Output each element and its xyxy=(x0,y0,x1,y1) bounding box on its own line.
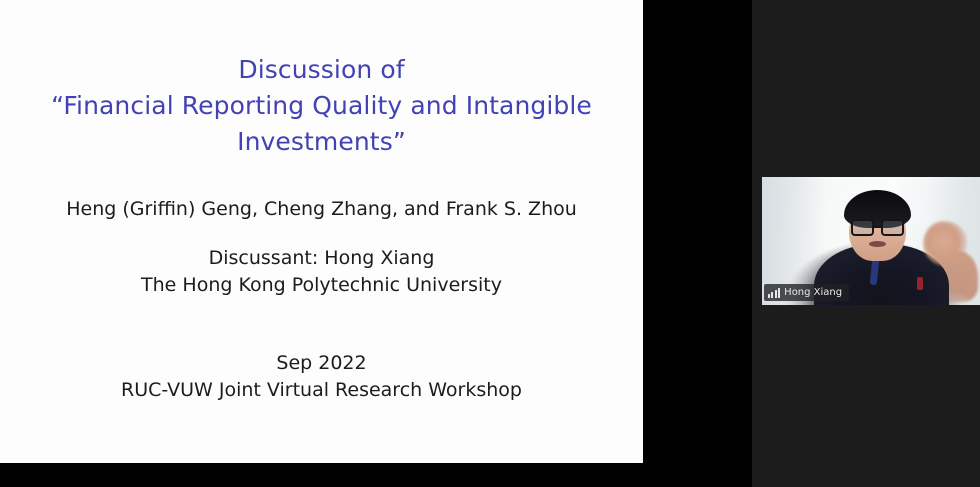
slide-title: Discussion of “Financial Reporting Quali… xyxy=(18,52,625,160)
slide-content: Discussion of “Financial Reporting Quali… xyxy=(0,0,643,463)
participant-hand xyxy=(923,221,967,267)
shared-slide[interactable]: Discussion of “Financial Reporting Quali… xyxy=(0,0,643,463)
slide-authors: Heng (Griffin) Geng, Cheng Zhang, and Fr… xyxy=(18,196,625,222)
slide-date: Sep 2022 xyxy=(18,350,625,377)
participant-name-badge: Hong Xiang xyxy=(764,284,849,301)
participant-glasses-icon xyxy=(851,219,903,236)
slide-affiliation: The Hong Kong Polytechnic University xyxy=(18,272,625,299)
slide-bottom-bar xyxy=(0,463,643,487)
audio-level-bars-icon xyxy=(768,288,780,298)
participant-shirt-logo xyxy=(917,277,923,290)
zoom-screen-share-view: Discussion of “Financial Reporting Quali… xyxy=(0,0,980,487)
participant-video-tile[interactable]: Hong Xiang xyxy=(762,177,980,305)
glasses-right-lens xyxy=(881,219,904,236)
screenshare-letterbox xyxy=(643,0,752,487)
glasses-bridge xyxy=(874,226,880,228)
slide-venue: RUC-VUW Joint Virtual Research Workshop xyxy=(18,377,625,404)
participant-name-label: Hong Xiang xyxy=(784,284,842,301)
slide-discussant: Discussant: Hong Xiang xyxy=(18,245,625,272)
glasses-left-lens xyxy=(851,219,874,236)
